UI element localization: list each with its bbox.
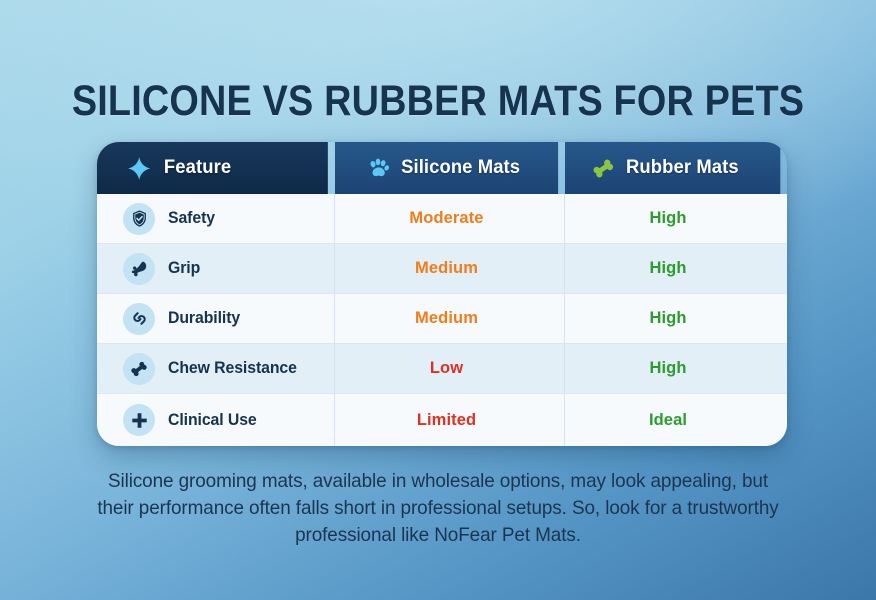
- table-header-silicone-label: Silicone Mats: [401, 157, 520, 179]
- table-cell-feature-label: Chew Resistance: [168, 359, 297, 378]
- table-cell-feature-label: Grip: [168, 259, 200, 278]
- table-cell-feature: Durability: [97, 294, 335, 343]
- table-row: Clinical Use Limited Ideal: [97, 394, 787, 446]
- table-cell-rubber: High: [565, 344, 787, 393]
- table-cell-feature-label: Durability: [168, 309, 240, 328]
- table-cell-silicone: Medium: [335, 294, 565, 343]
- table-cell-feature-label: Safety: [168, 209, 215, 228]
- table-cell-feature: Clinical Use: [97, 394, 335, 446]
- table-cell-rubber: High: [565, 244, 787, 293]
- chain-link-icon: [123, 303, 155, 335]
- infographic-canvas: SILICONE VS RUBBER MATS FOR PETS Feature: [0, 0, 876, 600]
- table-header-silicone: Silicone Mats: [335, 142, 558, 194]
- table-cell-rubber: High: [565, 194, 787, 243]
- table-cell-feature: Safety: [97, 194, 335, 243]
- table-cell-rubber: High: [565, 294, 787, 343]
- table-header-rubber: Rubber Mats: [565, 142, 780, 194]
- table-cell-silicone: Limited: [335, 394, 565, 446]
- table-header-feature: Feature: [97, 142, 328, 194]
- table-cell-feature: Grip: [97, 244, 335, 293]
- medical-cross-icon: [123, 404, 155, 436]
- bone-icon: [123, 353, 155, 385]
- table-header-row: Feature Silicone Mats: [97, 142, 787, 194]
- table-cell-feature-label: Clinical Use: [168, 411, 257, 430]
- table-header-rubber-label: Rubber Mats: [626, 157, 739, 179]
- table-row: Durability Medium High: [97, 294, 787, 344]
- shield-check-icon: [123, 203, 155, 235]
- table-cell-feature: Chew Resistance: [97, 344, 335, 393]
- paw-icon: [367, 156, 390, 180]
- table-cell-silicone: Moderate: [335, 194, 565, 243]
- table-body: Safety Moderate High Grip: [97, 194, 787, 446]
- table-cell-silicone: Medium: [335, 244, 565, 293]
- table-cell-rubber: Ideal: [565, 394, 787, 446]
- footer-description: Silicone grooming mats, available in who…: [89, 468, 787, 549]
- table-row: Chew Resistance Low High: [97, 344, 787, 394]
- table-row: Safety Moderate High: [97, 194, 787, 244]
- paw-print-icon: [123, 253, 155, 285]
- page-title: SILICONE VS RUBBER MATS FOR PETS: [53, 76, 824, 126]
- sparkle-icon: [127, 156, 151, 181]
- comparison-table: Feature Silicone Mats: [97, 142, 787, 446]
- table-cell-silicone: Low: [335, 344, 565, 393]
- table-row: Grip Medium High: [97, 244, 787, 294]
- table-header-feature-label: Feature: [164, 157, 231, 179]
- bone-icon: [591, 156, 615, 181]
